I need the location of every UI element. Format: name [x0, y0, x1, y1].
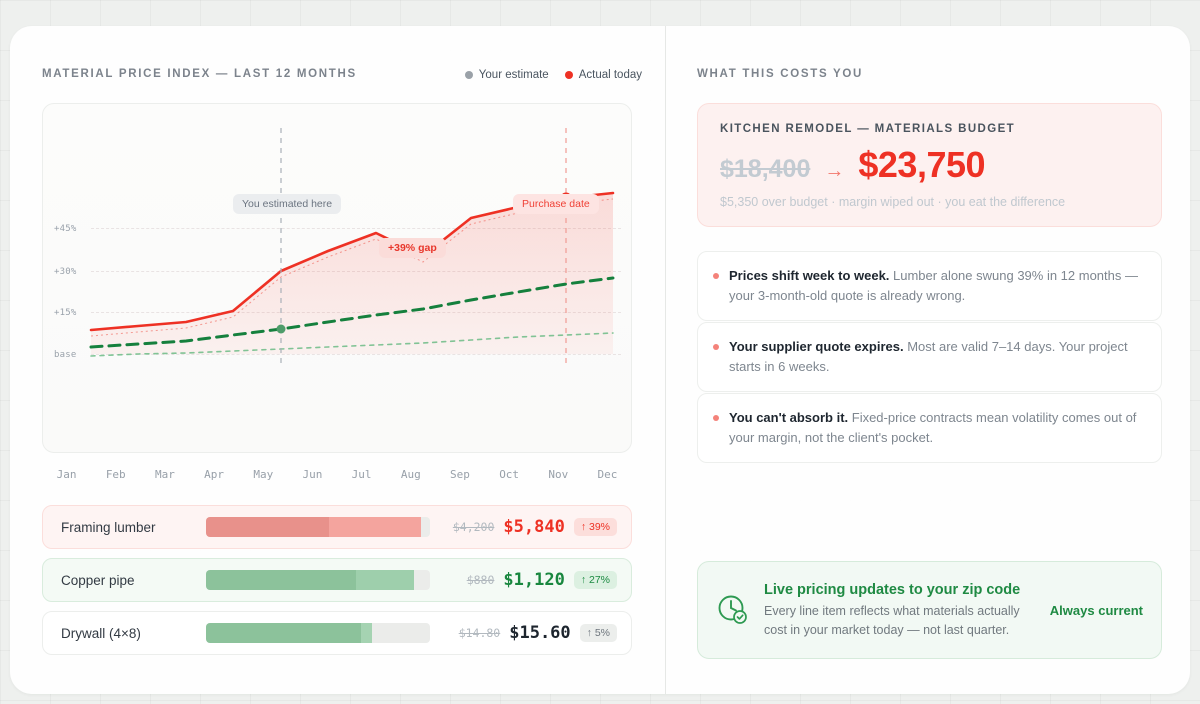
x-tick-label: Nov — [534, 468, 583, 481]
chart-x-axis: Jan Feb Mar Apr May Jun Jul Aug Sep Oct … — [42, 468, 632, 481]
budget-summary-card: KITCHEN REMODEL — MATERIALS BUDGET $18,4… — [697, 103, 1162, 227]
live-pricing-title: Live pricing updates to your zip code — [764, 581, 1036, 599]
live-pricing-text: Live pricing updates to your zip code Ev… — [764, 581, 1036, 638]
delta-badge: ↑ 39% — [574, 518, 617, 536]
fact-text: You can't absorb it. Fixed-price contrac… — [729, 408, 1144, 448]
fact-card: You can't absorb it. Fixed-price contrac… — [697, 393, 1162, 463]
arrow-right-icon: → — [824, 160, 844, 183]
table-row[interactable]: Drywall (4×8) $14.80 $15.60 ↑ 5% — [42, 611, 632, 655]
legend-dot-icon — [565, 71, 573, 79]
budget-old-amount: $18,400 — [720, 155, 810, 184]
material-name: Drywall (4×8) — [61, 626, 206, 641]
live-pricing-card: Live pricing updates to your zip code Ev… — [697, 561, 1162, 659]
x-tick-label: Apr — [190, 468, 239, 481]
price-index-chart[interactable]: +45% +30% +15% base — [42, 103, 632, 453]
material-price-list: Framing lumber $4,200 $5,840 ↑ 39% Coppe… — [42, 505, 632, 664]
material-prices: $880 $1,120 ↑ 27% — [430, 570, 617, 590]
material-name: Copper pipe — [61, 573, 206, 588]
clock-check-icon — [716, 593, 750, 627]
material-bar-increase — [329, 517, 421, 537]
x-tick-label: Aug — [386, 468, 435, 481]
status-badge: Always current — [1050, 603, 1143, 618]
x-tick-label: Jan — [42, 468, 91, 481]
new-price: $5,840 — [503, 517, 564, 537]
material-bar — [206, 623, 430, 643]
bullet-dot-icon — [713, 415, 719, 421]
material-prices: $14.80 $15.60 ↑ 5% — [430, 623, 617, 643]
x-tick-label: Sep — [435, 468, 484, 481]
legend-item-estimate: Your estimate — [465, 69, 549, 81]
x-tick-label: Feb — [91, 468, 140, 481]
table-row[interactable]: Framing lumber $4,200 $5,840 ↑ 39% — [42, 505, 632, 549]
fact-card: Prices shift week to week. Lumber alone … — [697, 251, 1162, 321]
old-price: $4,200 — [453, 520, 495, 534]
material-bar — [206, 517, 430, 537]
delta-badge: ↑ 27% — [574, 571, 617, 589]
live-pricing-subtitle: Every line item reflects what materials … — [764, 602, 1036, 638]
new-price: $15.60 — [509, 623, 570, 643]
page-root: MATERIAL PRICE INDEX — LAST 12 MONTHS Yo… — [0, 0, 1200, 704]
material-prices: $4,200 $5,840 ↑ 39% — [430, 517, 617, 537]
gap-annotation-pill: +39% gap — [379, 238, 446, 258]
material-bar-increase — [356, 570, 414, 590]
chart-legend: Your estimate Actual today — [465, 69, 642, 81]
new-price: $1,120 — [503, 570, 564, 590]
x-tick-label: Mar — [140, 468, 189, 481]
purchase-annotation-pill: Purchase date — [513, 194, 599, 214]
estimate-annotation-pill: You estimated here — [233, 194, 341, 214]
right-panel-title: WHAT THIS COSTS YOU — [697, 68, 1162, 80]
delta-badge: ↑ 5% — [580, 624, 617, 642]
legend-item-actual: Actual today — [565, 69, 642, 81]
material-bar-base — [206, 570, 356, 590]
old-price: $880 — [467, 573, 495, 587]
chart-svg — [43, 104, 632, 453]
legend-label: Actual today — [579, 69, 642, 81]
material-bar — [206, 570, 430, 590]
panel-divider — [665, 26, 666, 694]
fact-lead: You can't absorb it. — [729, 410, 848, 425]
actual-area-fill — [91, 193, 613, 354]
fact-lead: Prices shift week to week. — [729, 268, 889, 283]
chart-plot-area: +45% +30% +15% base — [43, 104, 631, 452]
fact-text: Prices shift week to week. Lumber alone … — [729, 266, 1144, 306]
fact-lead: Your supplier quote expires. — [729, 339, 904, 354]
legend-dot-icon — [465, 71, 473, 79]
old-price: $14.80 — [459, 626, 501, 640]
legend-label: Your estimate — [479, 69, 549, 81]
table-row[interactable]: Copper pipe $880 $1,120 ↑ 27% — [42, 558, 632, 602]
bullet-dot-icon — [713, 344, 719, 350]
budget-new-amount: $23,750 — [858, 144, 985, 186]
x-tick-label: Oct — [485, 468, 534, 481]
fact-text: Your supplier quote expires. Most are va… — [729, 337, 1144, 377]
material-bar-base — [206, 517, 329, 537]
fact-card: Your supplier quote expires. Most are va… — [697, 322, 1162, 392]
bullet-dot-icon — [713, 273, 719, 279]
x-tick-label: May — [239, 468, 288, 481]
budget-note: $5,350 over budget · margin wiped out · … — [720, 195, 1139, 209]
x-tick-label: Jun — [288, 468, 337, 481]
material-name: Framing lumber — [61, 520, 206, 535]
material-bar-increase — [361, 623, 372, 643]
right-panel-header: WHAT THIS COSTS YOU — [697, 68, 1162, 80]
x-tick-label: Jul — [337, 468, 386, 481]
material-bar-base — [206, 623, 361, 643]
budget-label: KITCHEN REMODEL — MATERIALS BUDGET — [720, 123, 1139, 135]
budget-amounts: $18,400 → $23,750 — [720, 144, 1139, 186]
left-panel-header: MATERIAL PRICE INDEX — LAST 12 MONTHS Yo… — [42, 68, 642, 80]
estimate-point-marker — [277, 325, 286, 334]
x-tick-label: Dec — [583, 468, 632, 481]
